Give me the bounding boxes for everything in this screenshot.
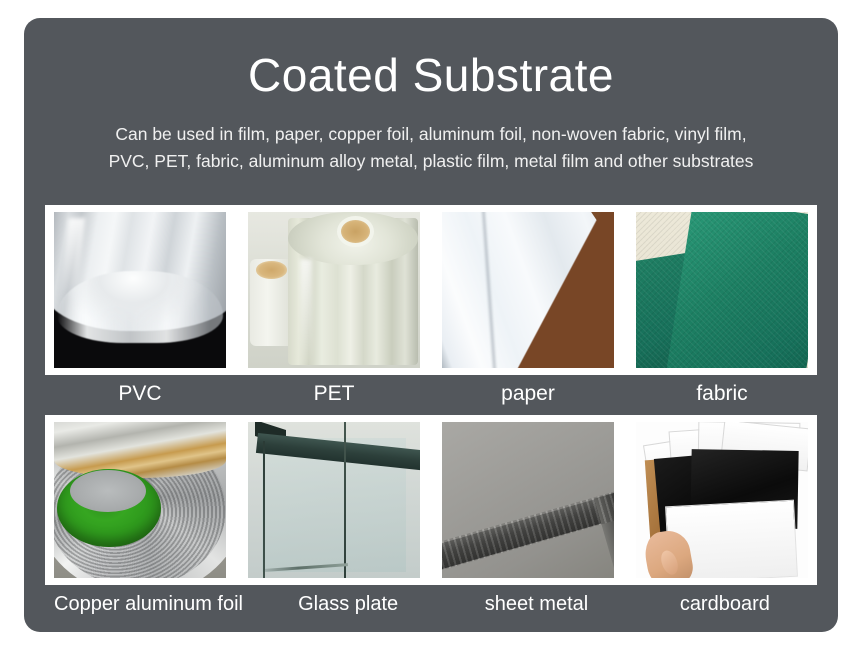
paper-diagonal-edge: [442, 212, 614, 368]
substrate-image-fabric[interactable]: [636, 212, 808, 368]
substrate-row-2: Copper aluminum foil Glass plate sheet m…: [45, 415, 817, 623]
substrate-label-sheet-metal: sheet metal: [453, 593, 619, 616]
glass-middle-edge: [344, 422, 346, 578]
substrate-image-pvc[interactable]: [54, 212, 226, 368]
foil-metallic-top: [54, 422, 226, 478]
pvc-sheen: [60, 218, 86, 299]
photo-strip-row-2: [45, 415, 817, 585]
pet-core-hole: [341, 220, 370, 243]
substrate-image-pet[interactable]: [248, 212, 420, 368]
substrate-image-paper[interactable]: [442, 212, 614, 368]
substrate-label-pvc: PVC: [54, 382, 226, 406]
substrate-image-copper-aluminum-foil[interactable]: [54, 422, 226, 578]
substrate-image-cardboard[interactable]: [636, 422, 808, 578]
subtitle-line-2: PVC, PET, fabric, aluminum alloy metal, …: [46, 148, 816, 175]
substrate-image-glass-plate[interactable]: [248, 422, 420, 578]
content-panel: Coated Substrate Can be used in film, pa…: [24, 18, 838, 632]
slide-canvas: Coated Substrate Can be used in film, pa…: [0, 0, 860, 669]
label-row-1: PVC PET paper fabric: [45, 375, 817, 413]
substrate-label-pet: PET: [248, 382, 420, 406]
fabric-weave-texture: [636, 212, 808, 368]
glass-left-edge: [263, 441, 265, 578]
subtitle-description: Can be used in film, paper, copper foil,…: [46, 121, 816, 175]
substrate-label-glass-plate: Glass plate: [265, 593, 431, 616]
subtitle-line-1: Can be used in film, paper, copper foil,…: [115, 124, 746, 144]
label-row-2: Copper aluminum foil Glass plate sheet m…: [45, 585, 817, 623]
pet-glare: [300, 259, 312, 365]
substrate-label-paper: paper: [442, 382, 614, 406]
photo-strip-row-1: [45, 205, 817, 375]
page-title: Coated Substrate: [24, 52, 838, 98]
substrate-label-copper-aluminum-foil: Copper aluminum foil: [54, 593, 243, 616]
substrate-label-cardboard: cardboard: [642, 593, 808, 616]
substrate-row-1: PVC PET paper fabric: [45, 205, 817, 413]
substrate-label-fabric: fabric: [636, 382, 808, 406]
substrate-image-sheet-metal[interactable]: [442, 422, 614, 578]
pvc-base-shadow: [54, 343, 226, 368]
foil-green-core: [57, 469, 160, 547]
